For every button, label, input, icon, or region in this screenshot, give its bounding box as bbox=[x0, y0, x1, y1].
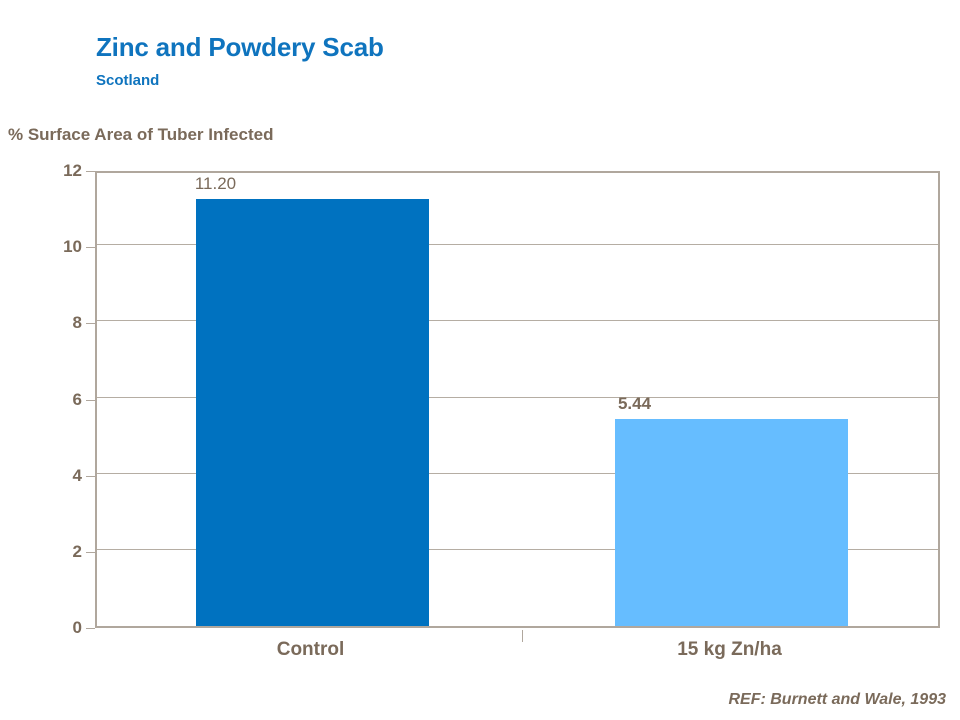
y-axis-tick-label: 12 bbox=[28, 161, 82, 181]
y-axis-tick-label-group: 024681012 bbox=[0, 171, 82, 628]
y-axis-tick-label: 8 bbox=[28, 313, 82, 333]
chart-title: Zinc and Powdery Scab bbox=[96, 32, 384, 63]
y-axis-tick-label: 0 bbox=[28, 618, 82, 638]
y-axis-tick-mark bbox=[86, 628, 95, 629]
x-axis-category-label-zinc: 15 kg Zn/ha bbox=[613, 639, 846, 661]
y-axis-tick-label: 6 bbox=[28, 390, 82, 410]
y-axis-tick-label: 10 bbox=[28, 237, 82, 257]
reference-note: REF: Burnett and Wale, 1993 bbox=[728, 691, 946, 709]
chart-subtitle: Scotland bbox=[96, 72, 159, 89]
y-axis-tick-label: 4 bbox=[28, 466, 82, 486]
y-axis-tick-mark bbox=[86, 552, 95, 553]
bar-value-label: 5.44 bbox=[518, 394, 751, 414]
y-axis-title: % Surface Area of Tuber Infected bbox=[8, 125, 273, 145]
y-axis-tick-mark bbox=[86, 171, 95, 172]
bar-value-label: 11.20 bbox=[99, 174, 332, 194]
bar-15-kg-zn-ha[interactable] bbox=[615, 419, 848, 626]
y-axis-tick-mark bbox=[86, 247, 95, 248]
bar-control[interactable] bbox=[196, 199, 429, 626]
y-axis-tick-mark bbox=[86, 476, 95, 477]
x-axis-tick-mark bbox=[522, 630, 523, 642]
x-axis-category-label-control: Control bbox=[194, 639, 427, 661]
y-axis-tick-mark bbox=[86, 400, 95, 401]
y-axis-tick-mark bbox=[86, 323, 95, 324]
y-axis-tick-label: 2 bbox=[28, 542, 82, 562]
